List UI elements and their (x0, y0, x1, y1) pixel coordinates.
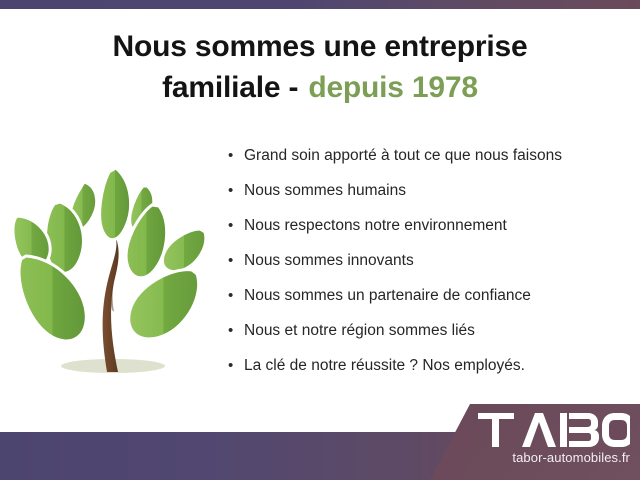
bullet-marker-icon: • (228, 253, 244, 268)
list-item: • La clé de notre réussite ? Nos employé… (228, 358, 628, 393)
list-item: • Nous sommes un partenaire de confiance (228, 288, 628, 323)
headline-line-2: familiale -depuis 1978 (0, 67, 640, 108)
list-item-label: Grand soin apporté à tout ce que nous fa… (244, 148, 562, 164)
headline-line-1: Nous sommes une entreprise (0, 26, 640, 67)
logo-url-text[interactable]: tabor-automobiles.fr (478, 450, 630, 465)
list-item-label: Nous sommes un partenaire de confiance (244, 288, 531, 304)
list-item-label: La clé de notre réussite ? Nos employés. (244, 358, 525, 374)
tabor-logo[interactable] (478, 413, 630, 447)
list-item-label: Nous sommes innovants (244, 253, 414, 269)
list-item: • Nous respectons notre environnement (228, 218, 628, 253)
slide-canvas: Nous sommes une entreprise familiale -de… (0, 0, 640, 480)
logo-letter-o (602, 413, 630, 447)
bullet-marker-icon: • (228, 323, 244, 338)
list-item: • Grand soin apporté à tout ce que nous … (228, 148, 628, 183)
list-item: • Nous sommes innovants (228, 253, 628, 288)
list-item-label: Nous sommes humains (244, 183, 406, 199)
tabor-wordmark-icon (478, 413, 630, 447)
bullet-marker-icon: • (228, 358, 244, 373)
tree-illustration (8, 160, 218, 378)
list-item: • Nous et notre région sommes liés (228, 323, 628, 358)
feature-bullet-list: • Grand soin apporté à tout ce que nous … (228, 148, 628, 393)
page-title: Nous sommes une entreprise familiale -de… (0, 26, 640, 109)
bullet-marker-icon: • (228, 148, 244, 163)
list-item-label: Nous et notre région sommes liés (244, 323, 475, 339)
tree-icon (8, 160, 218, 378)
headline-accent-text: depuis 1978 (308, 71, 478, 104)
tree-trunk (103, 238, 119, 372)
bullet-marker-icon: • (228, 218, 244, 233)
top-accent-bar (0, 0, 640, 9)
list-item-label: Nous respectons notre environnement (244, 218, 507, 234)
headline-main-text: familiale - (162, 71, 298, 104)
bullet-marker-icon: • (228, 288, 244, 303)
list-item: • Nous sommes humains (228, 183, 628, 218)
bullet-marker-icon: • (228, 183, 244, 198)
